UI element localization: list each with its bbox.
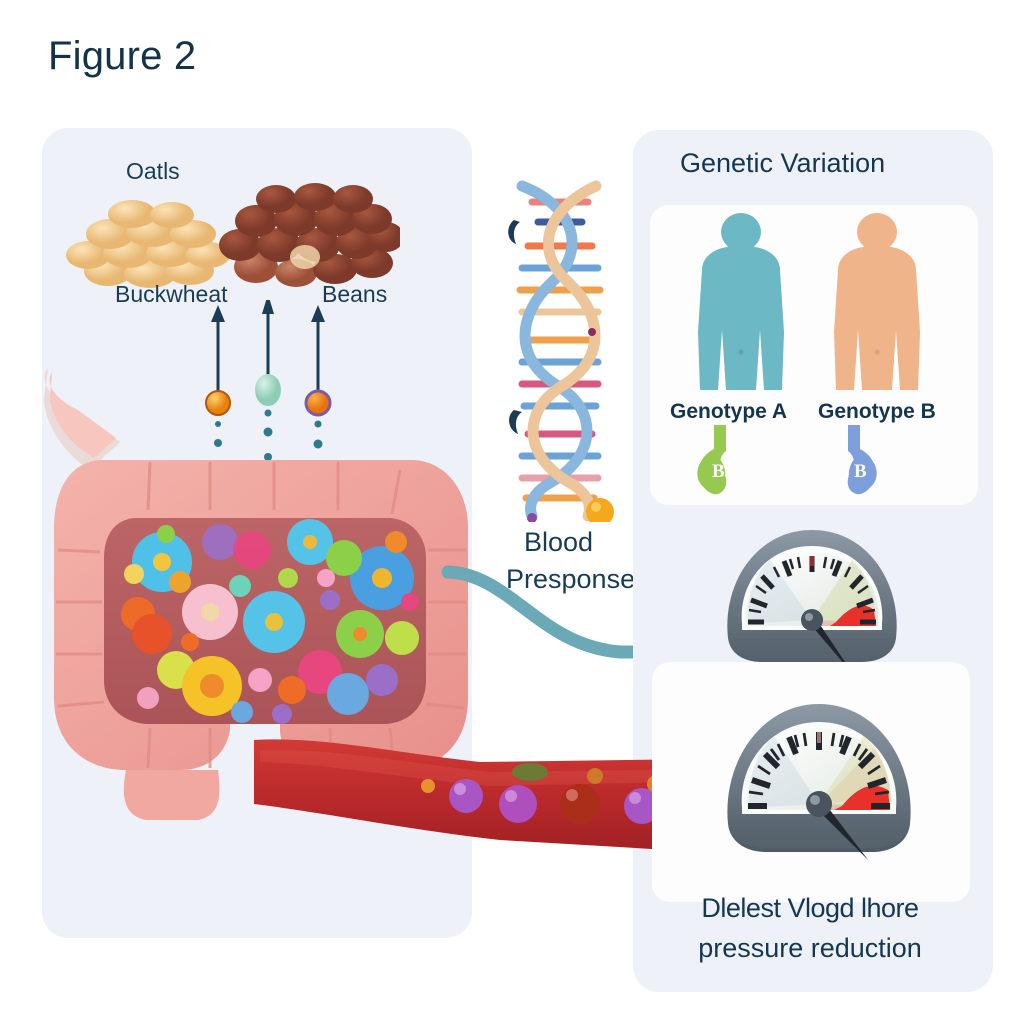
- figure-canvas: Figure 2: [0, 0, 1024, 1024]
- genotype-silhouettes: [660, 210, 950, 400]
- food-pile-illustration: [60, 175, 400, 290]
- pin-a-letter: B: [712, 461, 725, 482]
- silhouette-genotype-b: [834, 213, 920, 390]
- genotype-b-label: Genotype B: [818, 400, 936, 424]
- pin-genotype-b: B: [848, 425, 877, 494]
- bottom-caption-line2: pressure reduction: [698, 933, 922, 963]
- pin-b-letter: B: [854, 461, 867, 482]
- bottom-caption: Dlelest Vlogd lhore pressure reduction: [660, 888, 960, 968]
- dna-double-helix: [492, 172, 628, 522]
- food-label-oats: Oatls: [126, 158, 180, 185]
- genotype-a-label: Genotype A: [670, 400, 787, 424]
- genotype-pins: B B: [688, 425, 898, 520]
- blood-pressure-gauge-lower: [714, 688, 924, 863]
- genetic-variation-title: Genetic Variation: [680, 148, 885, 179]
- blood-pressure-gauge-upper: [712, 512, 912, 672]
- page-title: Figure 2: [48, 34, 196, 79]
- bottom-caption-line1: Dlelest Vlogd lhore: [660, 888, 960, 928]
- pin-genotype-a: B: [697, 425, 726, 494]
- silhouette-genotype-a: [698, 213, 784, 390]
